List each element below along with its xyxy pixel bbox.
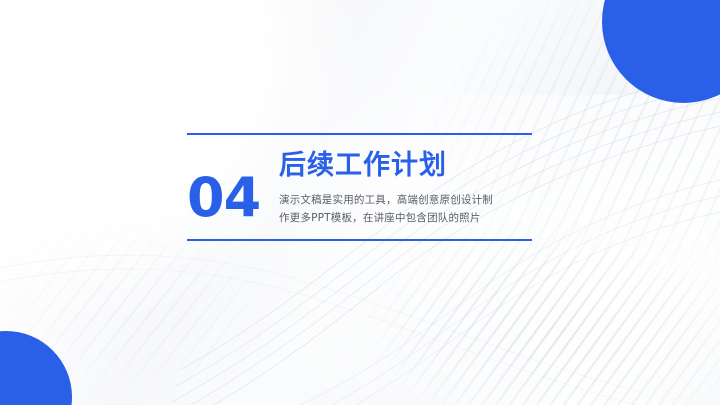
page-title: 后续工作计划	[279, 150, 532, 182]
description-line-2: 作更多PPT模板，在讲座中包含团队的照片	[279, 209, 532, 227]
slide-canvas: 04 后续工作计划 演示文稿是实用的工具，高端创意原创设计制 作更多PPT模板，…	[0, 0, 720, 405]
section-heading-row: 04 后续工作计划 演示文稿是实用的工具，高端创意原创设计制 作更多PPT模板，…	[187, 135, 532, 239]
divider-bottom	[187, 239, 532, 241]
section-number: 04	[187, 149, 279, 225]
slide-content: 04 后续工作计划 演示文稿是实用的工具，高端创意原创设计制 作更多PPT模板，…	[187, 133, 532, 241]
section-text-column: 后续工作计划 演示文稿是实用的工具，高端创意原创设计制 作更多PPT模板，在讲座…	[279, 149, 532, 227]
section-description: 演示文稿是实用的工具，高端创意原创设计制 作更多PPT模板，在讲座中包含团队的照…	[279, 191, 532, 227]
description-line-1: 演示文稿是实用的工具，高端创意原创设计制	[279, 191, 532, 209]
